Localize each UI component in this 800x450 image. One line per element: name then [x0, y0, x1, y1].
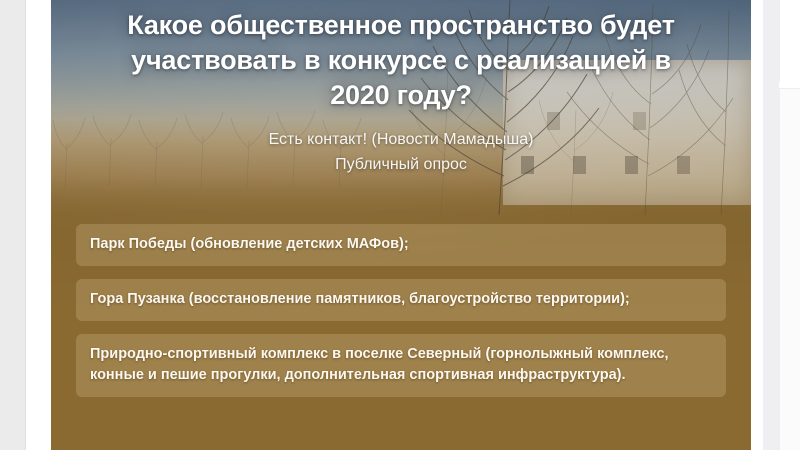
- right-panel-bottom: [779, 88, 800, 450]
- poll-option-3[interactable]: Природно-спортивный комплекс в поселке С…: [76, 334, 726, 397]
- right-panel-top: [779, 0, 800, 82]
- poll-header: Какое общественное пространство будет уч…: [51, 0, 751, 177]
- poll-screenshot: Какое общественное пространство будет уч…: [0, 0, 800, 450]
- poll-card: Какое общественное пространство будет уч…: [51, 0, 751, 450]
- poll-type-label: Публичный опрос: [51, 152, 751, 177]
- poll-options-list: Парк Победы (обновление детских МАФов); …: [76, 224, 726, 397]
- poll-option-1[interactable]: Парк Победы (обновление детских МАФов);: [76, 224, 726, 266]
- page-gutter-left: [0, 0, 26, 450]
- poll-source-label: Есть контакт! (Новости Мамадыша): [51, 127, 751, 152]
- poll-question-title: Какое общественное пространство будет уч…: [106, 8, 696, 113]
- page-gutter-right: [763, 0, 779, 450]
- poll-option-2[interactable]: Гора Пузанка (восстановление памятников,…: [76, 279, 726, 321]
